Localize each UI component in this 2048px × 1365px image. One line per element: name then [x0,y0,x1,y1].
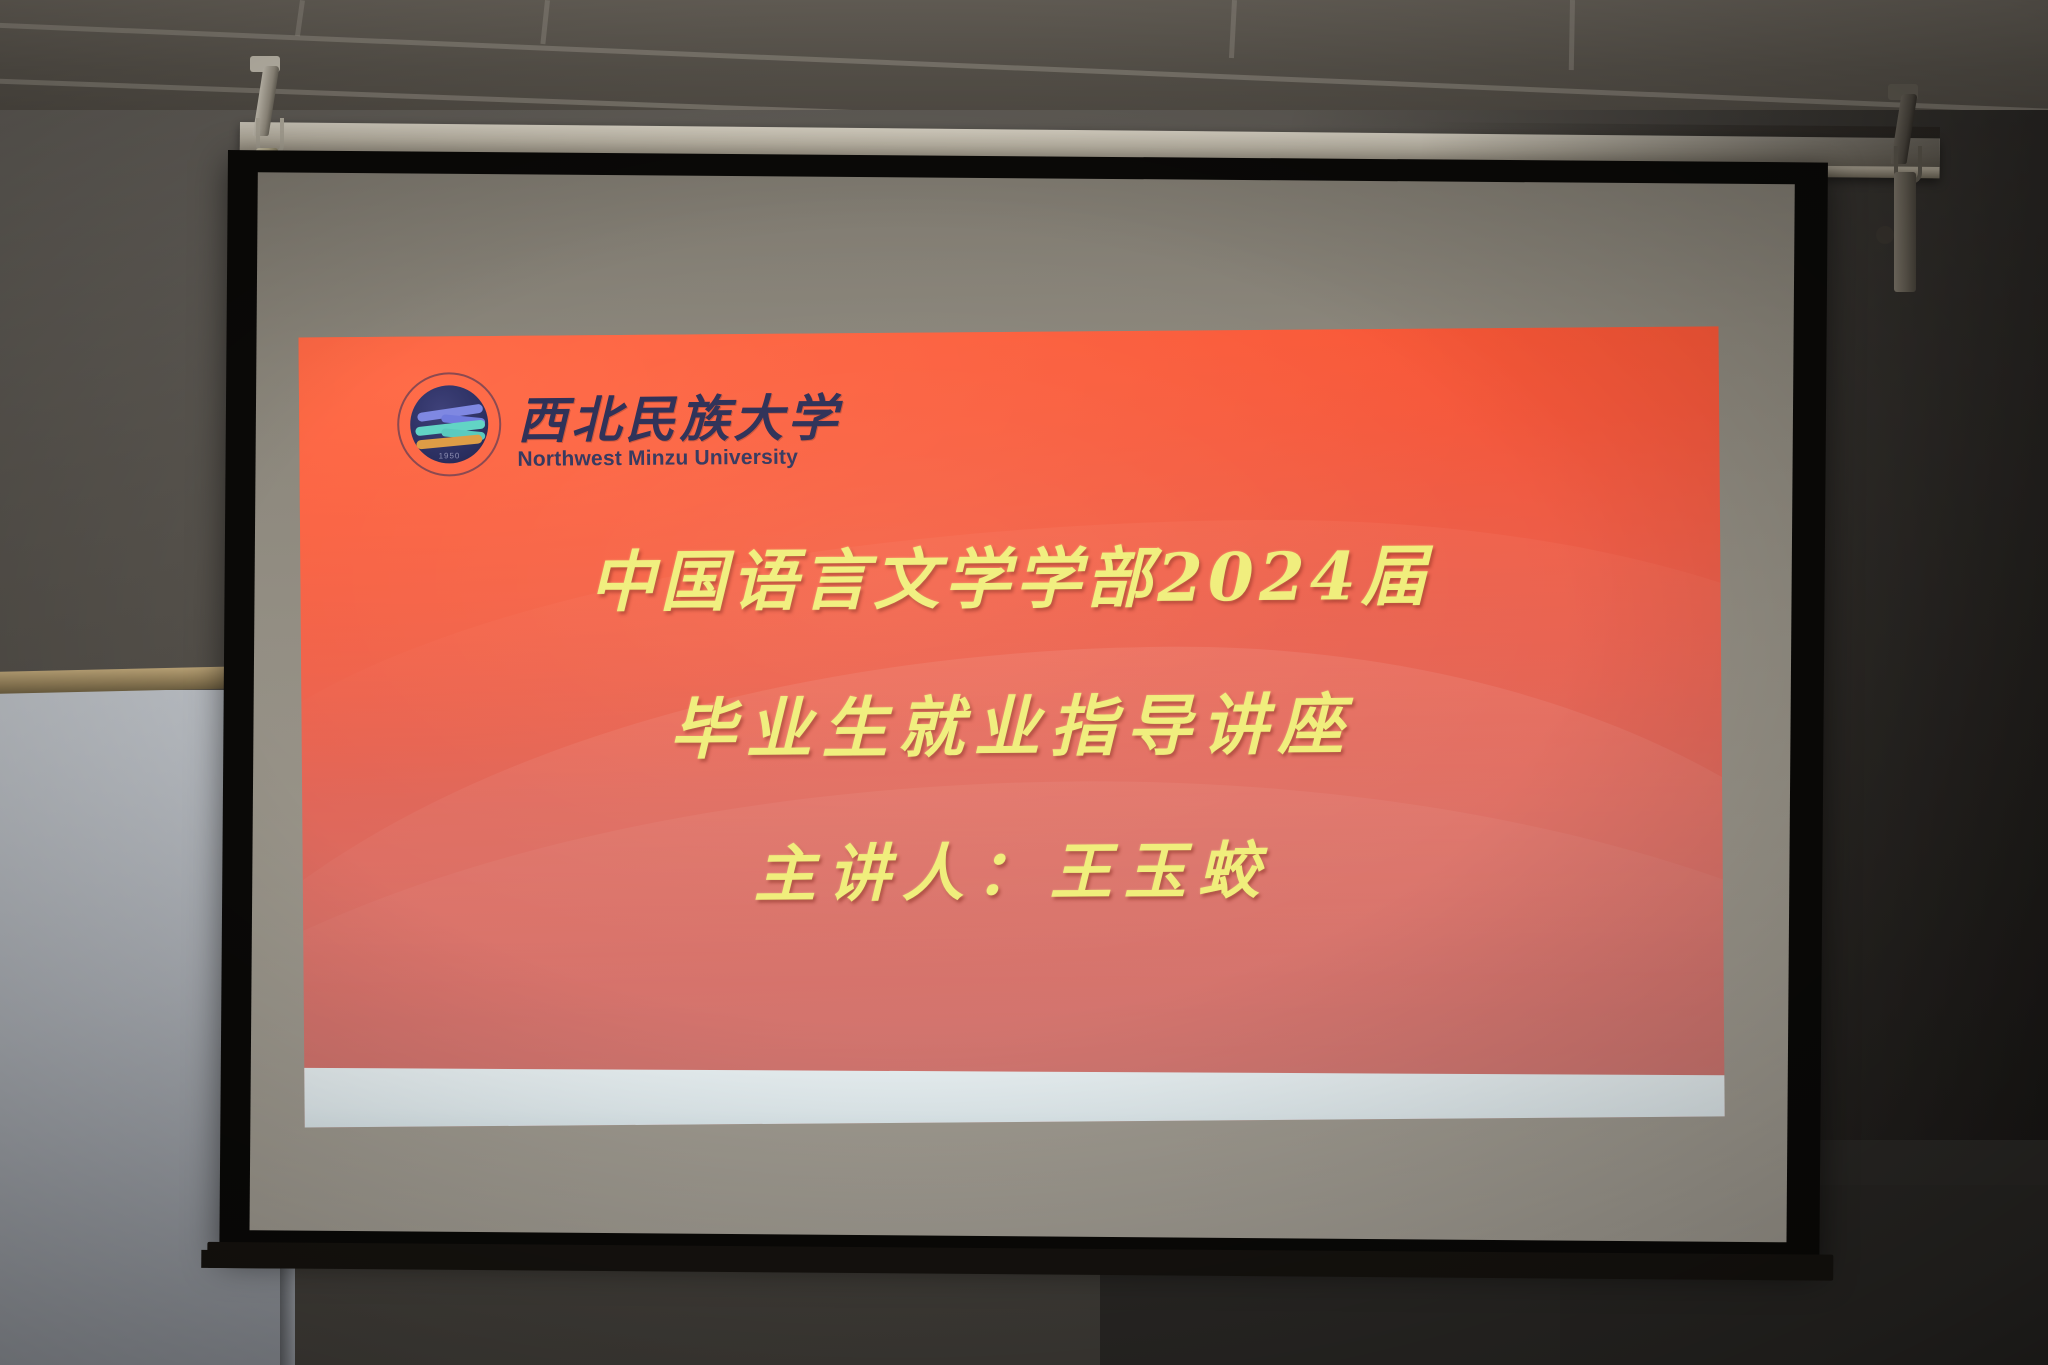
wordmark-english: Northwest Minzu University [517,445,841,472]
university-crest-icon: 1950 [397,372,502,477]
projection-surface: 1950 西北民族大学 Northwest Minzu University 中… [250,172,1795,1242]
wordmark-chinese: 西北民族大学 [517,393,841,446]
university-logo: 1950 西北民族大学 Northwest Minzu University [397,369,842,476]
bracket-drop-rod-right [1894,172,1916,292]
projected-slide: 1950 西北民族大学 Northwest Minzu University 中… [299,326,1725,1127]
logo-wordmark: 西北民族大学 Northwest Minzu University [517,393,842,476]
classroom-scene: ✦Redleaf [0,0,2048,1365]
crest-year: 1950 [397,451,501,461]
slide-headline-block: 中国语言文学学部2024届 毕业生就业指导讲座 主讲人：王玉蛟 [300,540,1723,909]
bracket-knob-right [1876,226,1894,244]
slide-headline-line-2: 毕业生就业指导讲座 [669,691,1353,762]
pull-down-screen[interactable]: 1950 西北民族大学 Northwest Minzu University 中… [219,150,1828,1273]
screen-bottom-weight-tab [201,1250,281,1269]
slide-headline-line-3: 主讲人：王玉蛟 [754,840,1272,906]
slide-headline-line-1: 中国语言文学学部2024届 [589,543,1432,616]
slide-footer-band [299,1068,1725,1128]
